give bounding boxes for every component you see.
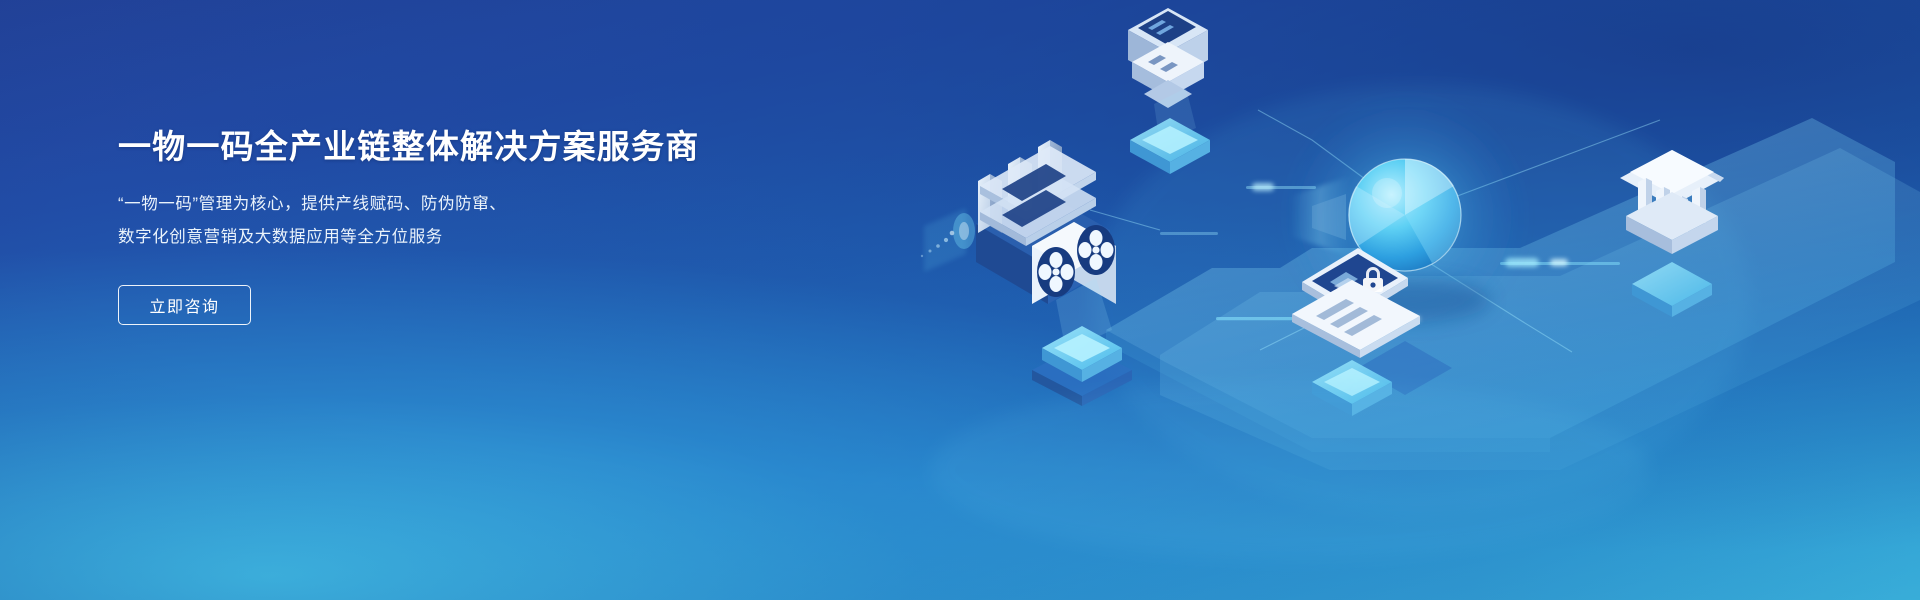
hero-banner: 一物一码全产业链整体解决方案服务商 “一物一码”管理为核心，提供产线赋码、防伪防… bbox=[0, 0, 1920, 600]
foreground-haze bbox=[930, 380, 1650, 560]
subtitle-line-1: “一物一码”管理为核心，提供产线赋码、防伪防窜、 bbox=[118, 189, 758, 220]
server-fan-rack-icon bbox=[921, 140, 1116, 304]
subtitle-line-2: 数字化创意营销及大数据应用等全方位服务 bbox=[118, 222, 758, 253]
data-stream-lower bbox=[1160, 232, 1218, 235]
pos-terminal-icon bbox=[1128, 8, 1208, 108]
hero-copy: 一物一码全产业链整体解决方案服务商 “一物一码”管理为核心，提供产线赋码、防伪防… bbox=[118, 128, 758, 325]
consult-now-button[interactable]: 立即咨询 bbox=[118, 285, 251, 325]
isometric-illustration bbox=[860, 0, 1920, 600]
page-title: 一物一码全产业链整体解决方案服务商 bbox=[118, 128, 758, 167]
